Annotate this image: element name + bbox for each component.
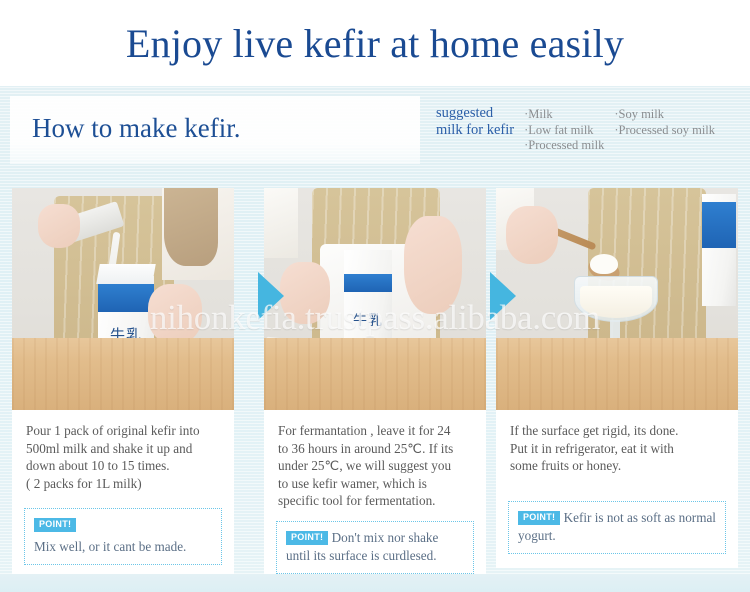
caption-line: some fruits or honey. — [510, 457, 725, 475]
kefir-in-glass — [580, 286, 652, 318]
milk-carton-label: 牛乳 — [344, 314, 392, 329]
step-1-photo: 牛乳 — [12, 188, 234, 410]
right-hand — [148, 284, 202, 344]
point-badge: POINT! — [286, 531, 328, 545]
steps-container: 牛乳 Pour 1 pack of original kefir into 50… — [0, 0, 750, 592]
arrow-right-icon-2 — [490, 272, 516, 320]
left-hand — [506, 206, 558, 264]
caption-line: to 36 hours in around 25℃. If its — [278, 440, 473, 458]
milk-carton-blue-band — [702, 202, 736, 248]
milk-carton-blue-band — [344, 274, 392, 292]
person-sleeve — [264, 188, 298, 258]
step-2-caption: For fermantation , leave it for 24 to 36… — [264, 410, 486, 510]
caption-line: under 25℃, we will suggest you — [278, 457, 473, 475]
caption-line: 500ml milk and shake it up and — [26, 440, 221, 458]
step-3-caption: If the surface get rigid, its done. Put … — [496, 410, 738, 475]
step-2-photo: 牛乳 — [264, 188, 486, 410]
wooden-table — [496, 338, 738, 410]
bottom-strip — [0, 574, 750, 592]
point-badge: POINT! — [34, 518, 76, 532]
caption-line: to use kefir wamer, which is — [278, 475, 473, 493]
person-hair — [164, 188, 218, 266]
arrow-right-icon-1 — [258, 272, 284, 320]
wooden-table — [264, 338, 486, 410]
point-text: Mix well, or it cant be made. — [34, 538, 212, 556]
caption-line: Pour 1 pack of original kefir into — [26, 422, 221, 440]
caption-line: Put it in refrigerator, eat it with — [510, 440, 725, 458]
right-hand — [404, 216, 462, 314]
milk-carton-top-flap — [96, 264, 156, 284]
caption-line: If the surface get rigid, its done. — [510, 422, 725, 440]
step-card-3: If the surface get rigid, its done. Put … — [496, 188, 738, 568]
step-2-point-box: POINT! Don't mix nor shake until its sur… — [276, 521, 474, 574]
step-1-caption: Pour 1 pack of original kefir into 500ml… — [12, 410, 234, 492]
step-card-1: 牛乳 Pour 1 pack of original kefir into 50… — [12, 188, 234, 579]
wooden-table — [12, 338, 234, 410]
step-1-point-box: POINT! Mix well, or it cant be made. — [24, 508, 222, 565]
caption-line: specific tool for fermentation. — [278, 492, 473, 510]
point-badge: POINT! — [518, 511, 560, 525]
step-3-point-box: POINT! Kefir is not as soft as normal yo… — [508, 501, 726, 554]
infographic-page: Enjoy live kefir at home easily How to m… — [0, 0, 750, 592]
step-3-photo — [496, 188, 738, 410]
caption-line: down about 10 to 15 times. — [26, 457, 221, 475]
caption-line: For fermantation , leave it for 24 — [278, 422, 473, 440]
caption-line: ( 2 packs for 1L milk) — [26, 475, 221, 493]
kefir-scoop — [590, 254, 618, 274]
milk-carton-blue-band — [98, 284, 154, 312]
step-card-2: 牛乳 For fermantation , leave it for 24 to… — [264, 188, 486, 588]
left-hand — [280, 262, 330, 324]
left-hand — [38, 204, 80, 248]
